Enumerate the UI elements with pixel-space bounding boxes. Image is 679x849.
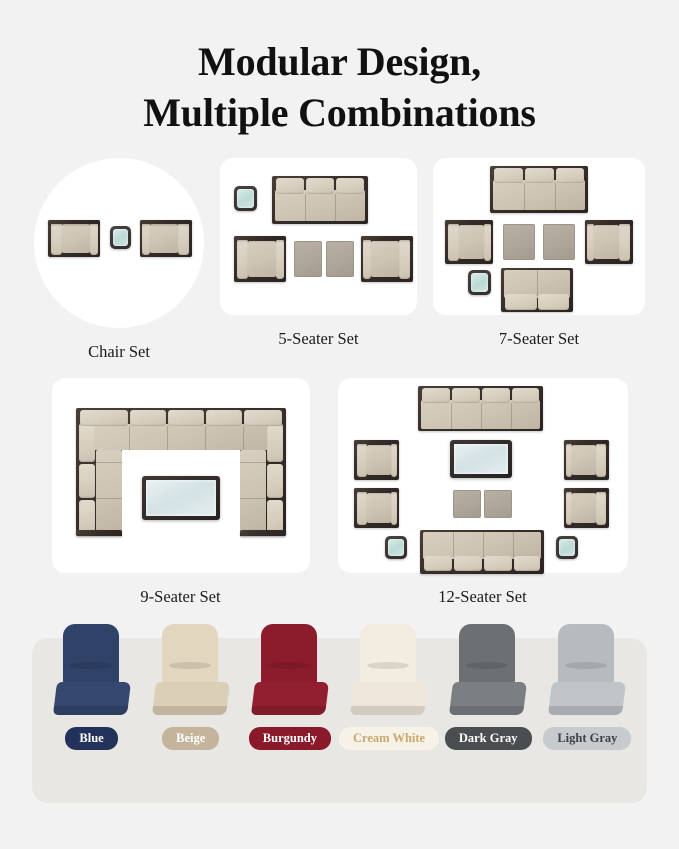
ottoman: [453, 490, 481, 518]
cushion-preview: [350, 624, 428, 720]
color-swatch-beige[interactable]: Beige: [143, 624, 239, 750]
set-label: Chair Set: [88, 342, 150, 362]
set-label: 12-Seater Set: [438, 587, 526, 607]
side-table: [468, 270, 491, 295]
set-row-top: Chair Set: [0, 158, 679, 362]
color-name-pill[interactable]: Burgundy: [249, 727, 331, 750]
cushion-back: [558, 624, 614, 686]
color-name-pill[interactable]: Dark Gray: [445, 727, 532, 750]
cushion-back: [261, 624, 317, 686]
color-name-pill[interactable]: Light Gray: [543, 727, 631, 750]
set-card-7-seater-set[interactable]: 7-Seater Set: [433, 158, 645, 349]
color-name-pill[interactable]: Cream White: [339, 727, 439, 750]
5-seater-set-diagram: [220, 158, 417, 315]
cushion-preview: [251, 624, 329, 720]
chair-set-diagram: [34, 158, 204, 328]
set-card-9-seater-set[interactable]: 9-Seater Set: [52, 378, 310, 607]
side-table: [110, 226, 131, 249]
color-swatch-blue[interactable]: Blue: [44, 624, 140, 750]
set-row-bottom: 9-Seater Set: [0, 378, 679, 607]
ottoman: [484, 490, 512, 518]
cushion-seat: [350, 682, 428, 715]
cushion-seat: [548, 682, 626, 715]
set-card-chair-set[interactable]: Chair Set: [34, 158, 204, 362]
cushion-seat: [251, 682, 329, 715]
color-name-pill[interactable]: Blue: [65, 727, 117, 750]
set-label: 5-Seater Set: [278, 329, 358, 349]
12-seater-set-diagram: [338, 378, 628, 573]
ottoman: [294, 241, 322, 277]
ottoman: [326, 241, 354, 277]
color-swatch-dark-gray[interactable]: Dark Gray: [440, 624, 536, 750]
page-title: Modular Design, Multiple Combinations: [0, 0, 679, 138]
color-swatch-burgundy[interactable]: Burgundy: [242, 624, 338, 750]
set-label: 9-Seater Set: [140, 587, 220, 607]
7-seater-set-diagram: [433, 158, 645, 315]
title-line-2: Multiple Combinations: [0, 87, 679, 138]
9-seater-set-diagram: [52, 378, 310, 573]
cushion-seat: [152, 682, 230, 715]
side-table: [234, 186, 257, 211]
title-line-1: Modular Design,: [0, 36, 679, 87]
color-swatch-cream-white[interactable]: Cream White: [341, 624, 437, 750]
side-table: [385, 536, 407, 559]
cushion-back: [459, 624, 515, 686]
cushion-seat: [53, 682, 131, 715]
cushion-preview: [548, 624, 626, 720]
ottoman: [543, 224, 575, 260]
set-card-5-seater-set[interactable]: 5-Seater Set: [220, 158, 417, 349]
color-swatch-light-gray[interactable]: Light Gray: [539, 624, 635, 750]
cushion-preview: [449, 624, 527, 720]
coffee-table: [450, 440, 512, 478]
cushion-preview: [152, 624, 230, 720]
ottoman: [503, 224, 535, 260]
color-swatch-row: Blue Beige Burgundy Cream White: [32, 638, 647, 750]
cushion-back: [63, 624, 119, 686]
cushion-preview: [53, 624, 131, 720]
cushion-seat: [449, 682, 527, 715]
coffee-table: [142, 476, 220, 520]
color-options-panel: Blue Beige Burgundy Cream White: [32, 638, 647, 803]
side-table: [556, 536, 578, 559]
set-label: 7-Seater Set: [499, 329, 579, 349]
color-name-pill[interactable]: Beige: [162, 727, 219, 750]
set-card-12-seater-set[interactable]: 12-Seater Set: [338, 378, 628, 607]
cushion-back: [360, 624, 416, 686]
cushion-back: [162, 624, 218, 686]
